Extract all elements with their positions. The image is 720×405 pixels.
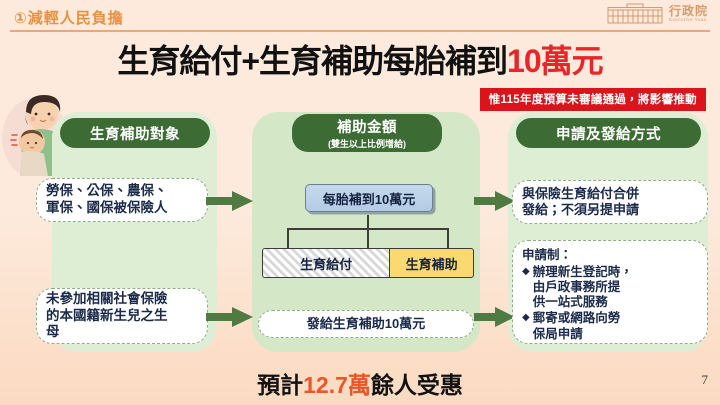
arrow-targets-to-amount-1 bbox=[206, 190, 254, 212]
application-card-combined: 與保險生育給付合併 發給；不須另提申請 bbox=[512, 180, 708, 224]
application-bullet-2: 郵寄或網路向勞 保局申請 bbox=[533, 311, 621, 342]
page-title-main: 生育給付+生育補助每胎補到 bbox=[117, 43, 507, 79]
diamond-bullet-icon: ◆ bbox=[522, 265, 530, 311]
logo-text-en: Executive Yuan bbox=[669, 18, 708, 23]
connector-vertical-main bbox=[367, 215, 369, 228]
amount-total-box: 每胎補到10萬元 bbox=[305, 184, 433, 212]
column-heading-application: 申請及發給方式 bbox=[516, 118, 701, 148]
government-building-icon bbox=[607, 2, 663, 26]
footer-text-highlight: 12.7萬 bbox=[303, 372, 371, 398]
arrow-amount-to-application-2 bbox=[474, 306, 516, 328]
header-divider bbox=[10, 30, 710, 32]
arrow-amount-to-application-1 bbox=[474, 190, 516, 212]
amount-split-row: 生育給付 生育補助 bbox=[262, 248, 474, 278]
column-heading-amount-sublabel: (雙生以上比例增給) bbox=[328, 137, 406, 150]
footer-text-after: 餘人受惠 bbox=[371, 372, 463, 398]
amount-split-benefit: 生育給付 bbox=[262, 248, 389, 278]
application-card-apply-title: 申請制： bbox=[522, 248, 633, 264]
list-item: ◆ 辦理新生登記時， 由戶政事務所提 供一站式服務 bbox=[522, 265, 633, 311]
section-kicker: ①減輕人民負擔 bbox=[14, 7, 124, 28]
column-heading-amount: 補助金額 (雙生以上比例增給) bbox=[292, 114, 442, 152]
application-card-combined-text: 與保險生育給付合併 發給；不須另提申請 bbox=[513, 186, 648, 219]
column-heading-targets: 生育補助對象 bbox=[60, 118, 210, 148]
application-card-apply: 申請制： ◆ 辦理新生登記時， 由戶政事務所提 供一站式服務 ◆ 郵寄或網路向勞… bbox=[512, 240, 708, 344]
column-heading-amount-label: 補助金額 bbox=[337, 116, 397, 137]
application-card-apply-body: 申請制： ◆ 辦理新生登記時， 由戶政事務所提 供一站式服務 ◆ 郵寄或網路向勞… bbox=[513, 241, 642, 342]
connector-drop-mid bbox=[367, 228, 369, 248]
target-card-uninsured-text: 未參加相關社會保險 的本國籍新生兒之生 母 bbox=[37, 291, 177, 342]
column-heading-targets-label: 生育補助對象 bbox=[90, 123, 180, 144]
footer-text-before: 預計 bbox=[257, 372, 303, 398]
connector-drop-right bbox=[447, 228, 449, 248]
target-card-insured: 勞保、公保、農保、 軍保、國保被保險人 bbox=[36, 178, 208, 222]
footer-summary: 預計12.7萬餘人受惠 bbox=[0, 366, 720, 400]
page-title-highlight: 10萬元 bbox=[507, 43, 603, 79]
application-bullet-list: ◆ 辦理新生登記時， 由戶政事務所提 供一站式服務 ◆ 郵寄或網路向勞 保局申請 bbox=[522, 265, 633, 342]
logo-text-cn: 行政院 bbox=[669, 5, 708, 17]
budget-warning-banner: 惟115年度預算未審議通過，將影響推動 bbox=[480, 88, 706, 111]
target-card-uninsured: 未參加相關社會保險 的本國籍新生兒之生 母 bbox=[36, 288, 208, 344]
amount-subsidy-only-box: 發給生育補助10萬元 bbox=[258, 310, 474, 338]
column-heading-application-label: 申請及發給方式 bbox=[556, 123, 661, 144]
page-number: 7 bbox=[702, 372, 709, 388]
diamond-bullet-icon: ◆ bbox=[522, 311, 530, 342]
list-item: ◆ 郵寄或網路向勞 保局申請 bbox=[522, 311, 633, 342]
application-bullet-1: 辦理新生登記時， 由戶政事務所提 供一站式服務 bbox=[533, 265, 633, 311]
target-card-insured-text: 勞保、公保、農保、 軍保、國保被保險人 bbox=[37, 183, 177, 217]
arrow-targets-to-amount-2 bbox=[206, 306, 254, 328]
amount-split-subsidy: 生育補助 bbox=[389, 248, 474, 278]
slide-root: ①減輕人民負擔 行政院 Executive Yuan 生育給付+生育補助每胎補到… bbox=[0, 0, 720, 405]
amount-subsidy-only-text: 發給生育補助10萬元 bbox=[298, 316, 434, 332]
executive-yuan-logo: 行政院 Executive Yuan bbox=[607, 2, 708, 26]
page-title: 生育給付+生育補助每胎補到10萬元 bbox=[0, 36, 720, 82]
connector-drop-left bbox=[287, 228, 289, 248]
